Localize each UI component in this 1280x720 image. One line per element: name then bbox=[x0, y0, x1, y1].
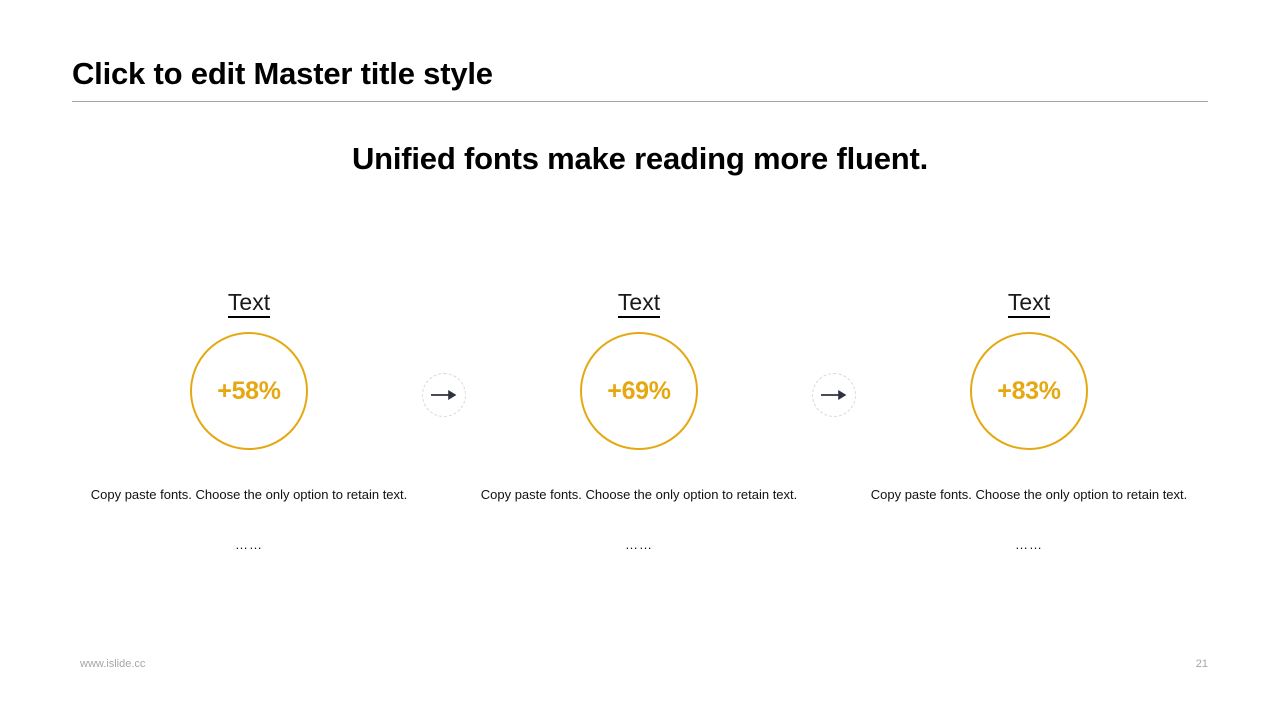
stat-ellipsis: …… bbox=[84, 538, 414, 551]
stat-column-2: Text +69% Copy paste fonts. Choose the o… bbox=[474, 290, 804, 551]
stat-description[interactable]: Copy paste fonts. Choose the only option… bbox=[474, 482, 804, 508]
stat-column-heading[interactable]: Text bbox=[228, 290, 270, 318]
stat-value: +83% bbox=[997, 377, 1060, 406]
stat-ellipsis: …… bbox=[474, 538, 804, 551]
arrow-right-icon bbox=[431, 387, 457, 403]
page-title[interactable]: Click to edit Master title style bbox=[72, 56, 1208, 92]
arrow-right-icon bbox=[821, 387, 847, 403]
stat-columns: Text +58% Copy paste fonts. Choose the o… bbox=[0, 290, 1280, 590]
subtitle-heading[interactable]: Unified fonts make reading more fluent. bbox=[0, 141, 1280, 177]
footer-url[interactable]: www.islide.cc bbox=[80, 658, 145, 670]
stat-description[interactable]: Copy paste fonts. Choose the only option… bbox=[864, 482, 1194, 508]
stat-circle-wrap: +83% bbox=[864, 332, 1194, 456]
stat-circle: +69% bbox=[580, 332, 698, 450]
title-divider bbox=[72, 101, 1208, 102]
connector-arrow-1[interactable] bbox=[422, 373, 466, 417]
stat-circle: +83% bbox=[970, 332, 1088, 450]
stat-column-3: Text +83% Copy paste fonts. Choose the o… bbox=[864, 290, 1194, 551]
stat-ellipsis: …… bbox=[864, 538, 1194, 551]
stat-column-1: Text +58% Copy paste fonts. Choose the o… bbox=[84, 290, 414, 551]
stat-description[interactable]: Copy paste fonts. Choose the only option… bbox=[84, 482, 414, 508]
stat-value: +58% bbox=[217, 377, 280, 406]
stat-column-heading[interactable]: Text bbox=[618, 290, 660, 318]
stat-circle-wrap: +69% bbox=[474, 332, 804, 456]
stat-circle-wrap: +58% bbox=[84, 332, 414, 456]
title-block: Click to edit Master title style bbox=[72, 56, 1208, 102]
stat-circle: +58% bbox=[190, 332, 308, 450]
stat-value: +69% bbox=[607, 377, 670, 406]
stat-column-heading[interactable]: Text bbox=[1008, 290, 1050, 318]
connector-arrow-2[interactable] bbox=[812, 373, 856, 417]
footer-page-number: 21 bbox=[1196, 658, 1208, 670]
